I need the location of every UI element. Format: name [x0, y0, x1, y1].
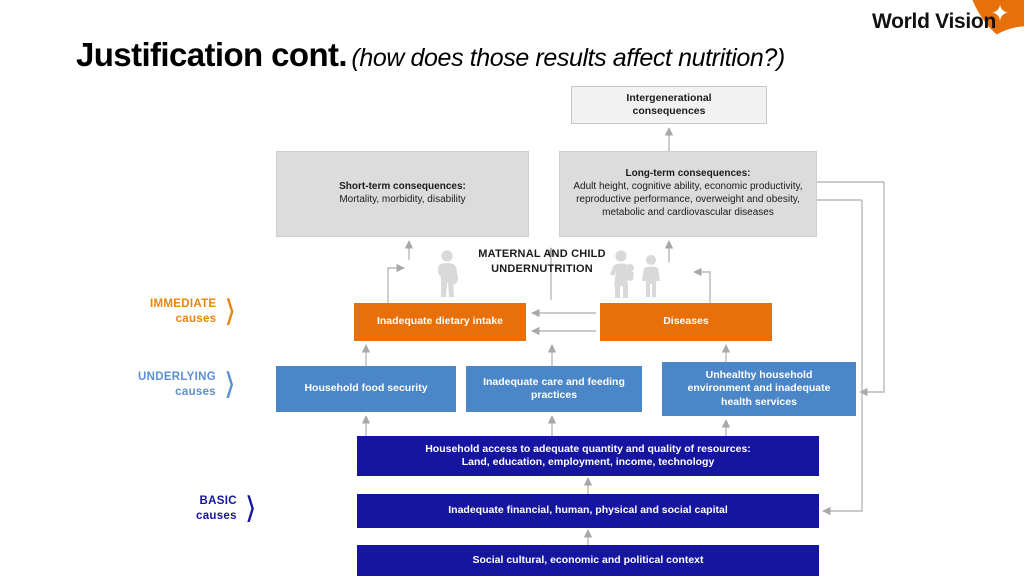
- box-inadequate-capital[interactable]: Inadequate financial, human, physical an…: [357, 494, 819, 528]
- basic-line-1: BASIC: [196, 494, 237, 509]
- level-label-immediate-causes: IMMEDIATE causes ⟩: [150, 297, 236, 327]
- box-intergenerational-consequences[interactable]: Intergenerational consequences: [571, 86, 767, 124]
- level-label-underlying-causes: UNDERLYING causes ⟩: [138, 370, 236, 400]
- immediate-line-1: IMMEDIATE: [150, 297, 216, 312]
- inadequate-dietary-intake-label: Inadequate dietary intake: [377, 315, 503, 328]
- chevron-right-icon: ⟩: [245, 497, 257, 521]
- central-label-line-2: UNDERNUTRITION: [466, 262, 618, 277]
- short-term-body: Mortality, morbidity, disability: [339, 194, 465, 207]
- box-inadequate-care-and-feeding-practices[interactable]: Inadequate care and feeding practices: [466, 366, 642, 412]
- box-short-term-consequences[interactable]: Short-term consequences: Mortality, morb…: [276, 151, 529, 237]
- diagram-connector-lines: [0, 0, 1024, 576]
- unhealthy-household-line-3: health services: [721, 396, 797, 409]
- underlying-line-1: UNDERLYING: [138, 370, 216, 385]
- inadequate-care-line-2: practices: [531, 389, 577, 402]
- level-label-basic-causes: BASIC causes ⟩: [196, 494, 257, 524]
- unicef-undernutrition-framework-diagram: Intergenerational consequences Short-ter…: [0, 0, 1024, 576]
- short-term-heading: Short-term consequences:: [339, 181, 466, 194]
- chevron-right-icon: ⟩: [224, 300, 236, 324]
- box-social-cultural-economic-political-context[interactable]: Social cultural, economic and political …: [357, 545, 819, 576]
- box-inadequate-dietary-intake[interactable]: Inadequate dietary intake: [354, 303, 526, 341]
- box-diseases[interactable]: Diseases: [600, 303, 772, 341]
- unhealthy-household-line-2: environment and inadequate: [688, 382, 831, 395]
- pregnant-woman-icon: [434, 249, 464, 304]
- box-unhealthy-household-environment[interactable]: Unhealthy household environment and inad…: [662, 362, 856, 416]
- mother-with-baby-icon: [609, 249, 639, 304]
- social-context-label: Social cultural, economic and political …: [472, 554, 703, 567]
- household-access-line-2: Land, education, employment, income, tec…: [462, 456, 715, 469]
- intergenerational-line-1: Intergenerational: [626, 92, 711, 105]
- underlying-line-2: causes: [138, 385, 216, 400]
- basic-line-2: causes: [196, 509, 237, 524]
- box-long-term-consequences[interactable]: Long-term consequences: Adult height, co…: [559, 151, 817, 237]
- central-label-maternal-child-undernutrition: MATERNAL AND CHILD UNDERNUTRITION: [466, 247, 618, 277]
- long-term-body: Adult height, cognitive ability, economi…: [560, 181, 816, 219]
- child-icon: [639, 254, 663, 303]
- unhealthy-household-line-1: Unhealthy household: [706, 369, 813, 382]
- immediate-line-2: causes: [150, 312, 216, 327]
- household-food-security-label: Household food security: [304, 382, 427, 395]
- box-household-access-to-resources[interactable]: Household access to adequate quantity an…: [357, 436, 819, 476]
- inadequate-care-line-1: Inadequate care and feeding: [483, 376, 625, 389]
- central-label-line-1: MATERNAL AND CHILD: [466, 247, 618, 262]
- diseases-label: Diseases: [663, 315, 709, 328]
- box-household-food-security[interactable]: Household food security: [276, 366, 456, 412]
- inadequate-capital-label: Inadequate financial, human, physical an…: [448, 504, 728, 517]
- intergenerational-line-2: consequences: [633, 105, 706, 118]
- long-term-heading: Long-term consequences:: [625, 168, 750, 181]
- chevron-right-icon: ⟩: [224, 373, 236, 397]
- household-access-line-1: Household access to adequate quantity an…: [425, 443, 751, 456]
